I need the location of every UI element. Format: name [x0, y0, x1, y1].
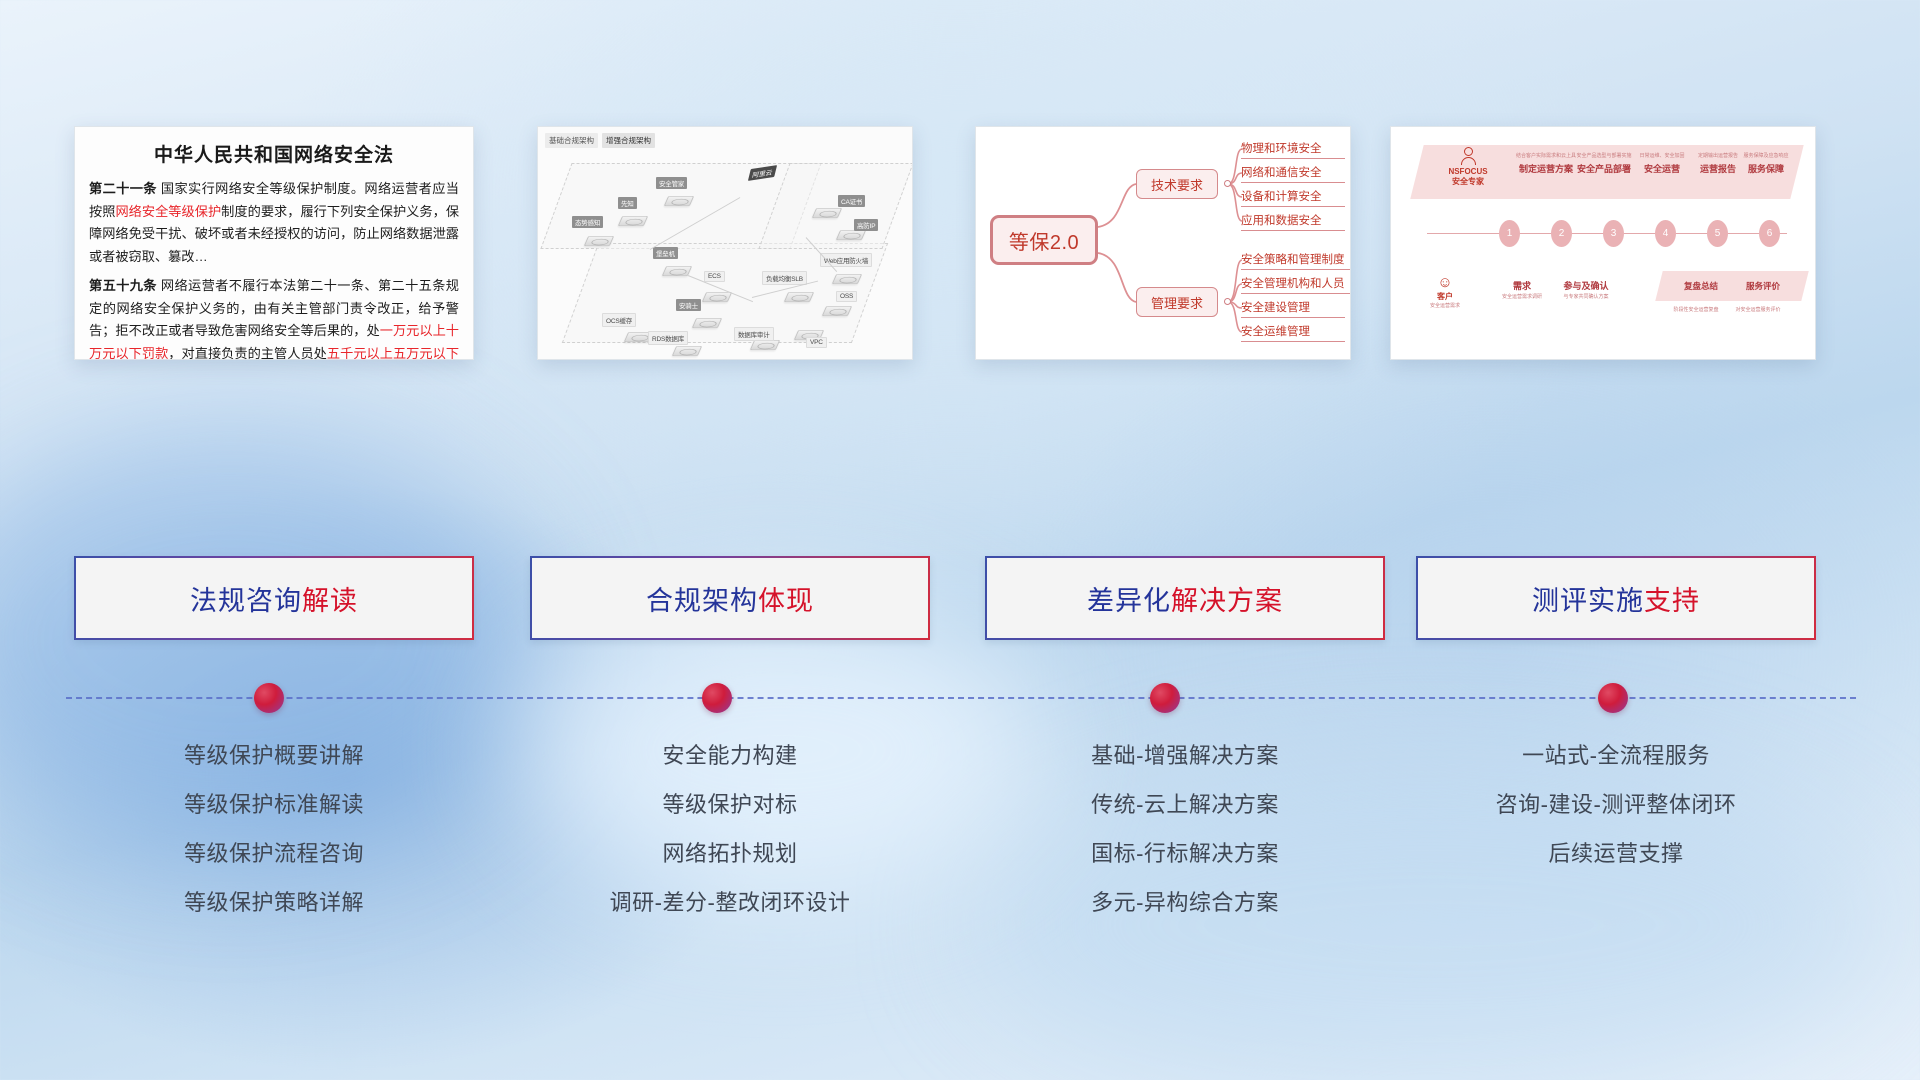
- node-xianzhi: [620, 209, 646, 229]
- process-bottom-step-2: 参与及确认 与专家共同确认方案: [1549, 279, 1623, 300]
- pillar-headline-1-label: 法规咨询解读: [190, 579, 358, 618]
- customer-sub: 安全运营需求: [1415, 302, 1475, 309]
- process-bottom-step-1-main: 需求: [1485, 279, 1559, 292]
- node-oss: [824, 299, 850, 319]
- mindmap-leaf-org-personnel: 安全管理机构和人员: [1241, 275, 1351, 294]
- tab-enhanced-architecture[interactable]: 增强合规架构: [602, 133, 655, 148]
- list-item: 基础-增强解决方案: [985, 745, 1385, 767]
- process-bottom-step-2-sub: 与专家共同确认方案: [1549, 294, 1623, 300]
- process-top-step-5-sub: 服务保障及应急响应: [1729, 153, 1803, 159]
- node-bastion-host: [664, 259, 690, 279]
- pillar-headline-1[interactable]: 法规咨询解读: [74, 556, 474, 640]
- node-label-ecs: ECS: [704, 271, 725, 282]
- node-label-oss: OSS: [836, 291, 857, 302]
- customer-label: 客户: [1415, 291, 1475, 302]
- pillar-headline-row: 法规咨询解读 合规架构体现 差异化解决方案 测评实施支持: [0, 556, 1920, 640]
- card-cybersecurity-law[interactable]: 中华人民共和国网络安全法 第二十一条 国家实行网络安全等级保护制度。网络运营者应…: [74, 126, 474, 360]
- node-label-security-butler: 安全管家: [656, 177, 687, 189]
- law-article-21-label: 第二十一条: [89, 181, 157, 196]
- process-step-number-2: 2: [1551, 220, 1572, 247]
- pillar-headline-4[interactable]: 测评实施支持: [1416, 556, 1816, 640]
- node-label-slb: 负载均衡SLB: [762, 271, 807, 285]
- process-top-step-5: 服务保障及应急响应 服务保障: [1729, 153, 1803, 175]
- process-bottom-step-4-sub: 对安全运营服务评价: [1721, 307, 1795, 313]
- mindmap-leaf-device-compute: 设备和计算安全: [1241, 188, 1345, 207]
- list-item: 等级保护对标: [530, 794, 930, 816]
- mindmap-branch-technical: 技术要求: [1136, 169, 1218, 199]
- process-bottom-step-1: 需求 安全运营需求调研: [1485, 279, 1559, 300]
- node-label-situation-awareness: 态势感知: [572, 216, 603, 228]
- mindmap: 等保2.0 技术要求 物理和环境安全 网络和通信安全 设备和计算安全 应用和数据…: [976, 127, 1350, 359]
- expert-brand: NSFOCUS: [1435, 167, 1501, 177]
- process-banner: NSFOCUS 安全专家 结合客户实际需求和云上具 制定运营方案 安全产品选型与…: [1410, 145, 1803, 199]
- process-diagram: NSFOCUS 安全专家 结合客户实际需求和云上具 制定运营方案 安全产品选型与…: [1391, 127, 1815, 359]
- mindmap-leaf-physical-env: 物理和环境安全: [1241, 140, 1345, 159]
- architecture-diagram: 基础合规架构 增强合规架构 阿里云 态势感知 先知 安全管家 堡垒机 ECS 安…: [538, 127, 912, 359]
- pillar-headline-3-red: 解决方案: [1171, 586, 1283, 616]
- mindmap-collapse-dot-technical[interactable]: [1224, 180, 1231, 187]
- process-expert-badge: NSFOCUS 安全专家: [1435, 147, 1501, 187]
- pillar-headline-2[interactable]: 合规架构体现: [530, 556, 930, 640]
- list-item: 调研-差分-整改闭环设计: [530, 892, 930, 914]
- process-step-number-5: 5: [1707, 220, 1728, 247]
- card-compliance-architecture[interactable]: 基础合规架构 增强合规架构 阿里云 态势感知 先知 安全管家 堡垒机 ECS 安…: [537, 126, 913, 360]
- list-item: 传统-云上解决方案: [985, 794, 1385, 816]
- process-step-number-3: 3: [1603, 220, 1624, 247]
- architecture-tab-row: 基础合规架构 增强合规架构: [545, 133, 655, 148]
- list-item: 国标-行标解决方案: [985, 843, 1385, 865]
- pillar-headline-3-blue: 差异化: [1087, 586, 1171, 616]
- mindmap-leaf-operation-mgmt: 安全运维管理: [1241, 323, 1345, 342]
- card-nsfocus-process[interactable]: NSFOCUS 安全专家 结合客户实际需求和云上具 制定运营方案 安全产品选型与…: [1390, 126, 1816, 360]
- node-waf: [834, 267, 860, 287]
- pillar-headline-2-red: 体现: [758, 586, 814, 616]
- process-bottom-step-2-main: 参与及确认: [1549, 279, 1623, 292]
- customer-person-icon: ☺: [1415, 275, 1475, 290]
- timeline-node-2[interactable]: [702, 683, 732, 713]
- node-label-vpc: VPC: [806, 337, 827, 348]
- node-ca-certificate: [814, 201, 840, 221]
- pillar-list-2: 安全能力构建 等级保护对标 网络拓扑规划 调研-差分-整改闭环设计: [530, 745, 930, 941]
- law-article-59-text-b: ，对直接负责的主管人员处: [168, 346, 327, 360]
- list-item: 网络拓扑规划: [530, 843, 930, 865]
- pillar-list-4: 一站式-全流程服务 咨询-建设-测评整体闭环 后续运营支撑: [1416, 745, 1816, 892]
- process-step-number-1: 1: [1499, 220, 1520, 247]
- preview-card-row: 中华人民共和国网络安全法 第二十一条 国家实行网络安全等级保护制度。网络运营者应…: [0, 126, 1920, 366]
- pillar-headline-1-red: 解读: [302, 586, 358, 616]
- pillar-list-3: 基础-增强解决方案 传统-云上解决方案 国标-行标解决方案 多元-异构综合方案: [985, 745, 1385, 941]
- node-label-bastion-host: 堡垒机: [653, 247, 678, 259]
- process-bottom-step-1-sub: 安全运营需求调研: [1485, 294, 1559, 300]
- list-item: 等级保护流程咨询: [74, 843, 474, 865]
- law-article-21-highlight: 网络安全等级保护: [115, 204, 221, 219]
- pillar-headline-4-label: 测评实施支持: [1532, 579, 1700, 618]
- node-situation-awareness: [586, 229, 612, 249]
- process-bottom-step-3-main: 复盘总结: [1684, 280, 1718, 292]
- node-label-ca-certificate: CA证书: [838, 195, 865, 207]
- node-anqishi: [694, 311, 720, 331]
- expert-person-body-icon: [1461, 157, 1476, 165]
- law-title: 中华人民共和国网络安全法: [89, 140, 459, 167]
- process-step-number-6: 6: [1759, 220, 1780, 247]
- list-item: 等级保护标准解读: [74, 794, 474, 816]
- node-label-db-audit: 数据库审计: [734, 327, 774, 341]
- process-bottom-tag-2: 服务评价: [1717, 271, 1808, 301]
- process-bottom-step-4-main: 服务评价: [1746, 280, 1780, 292]
- node-label-ocs-cache: OCS缓存: [602, 313, 636, 327]
- node-label-anti-ddos-ip: 高防IP: [854, 219, 878, 231]
- card-dengbao-mindmap[interactable]: 等保2.0 技术要求 物理和环境安全 网络和通信安全 设备和计算安全 应用和数据…: [975, 126, 1351, 360]
- timeline-dashed-line: [66, 697, 1856, 699]
- pillar-headline-2-label: 合规架构体现: [646, 579, 814, 618]
- process-top-step-5-main: 服务保障: [1729, 162, 1803, 175]
- node-label-xianzhi: 先知: [618, 197, 637, 209]
- list-item: 安全能力构建: [530, 745, 930, 767]
- node-security-butler: [666, 189, 692, 209]
- tab-basic-architecture[interactable]: 基础合规架构: [545, 133, 598, 148]
- pillar-headline-3[interactable]: 差异化解决方案: [985, 556, 1385, 640]
- timeline-node-1[interactable]: [254, 683, 284, 713]
- mindmap-leaf-policy-system: 安全策略和管理制度: [1241, 251, 1351, 270]
- mindmap-root: 等保2.0: [990, 215, 1098, 265]
- pillar-headline-2-blue: 合规架构: [646, 586, 758, 616]
- list-item: 等级保护策略详解: [74, 892, 474, 914]
- list-item: 等级保护概要讲解: [74, 745, 474, 767]
- pillar-list-1: 等级保护概要讲解 等级保护标准解读 等级保护流程咨询 等级保护策略详解: [74, 745, 474, 941]
- node-label-rds-database: RDS数据库: [648, 331, 688, 345]
- list-item: 多元-异构综合方案: [985, 892, 1385, 914]
- expert-person-icon: [1464, 147, 1473, 156]
- law-article-59-label: 第五十九条: [89, 278, 157, 293]
- mindmap-leaf-app-data: 应用和数据安全: [1241, 212, 1345, 231]
- mindmap-collapse-dot-management[interactable]: [1224, 298, 1231, 305]
- pillar-headline-3-label: 差异化解决方案: [1087, 579, 1283, 618]
- process-customer-badge: ☺ 客户 安全运营需求: [1415, 275, 1475, 309]
- mindmap-leaf-construction-mgmt: 安全建设管理: [1241, 299, 1345, 318]
- law-content: 中华人民共和国网络安全法 第二十一条 国家实行网络安全等级保护制度。网络运营者应…: [75, 127, 473, 360]
- list-item: 后续运营支撑: [1416, 843, 1816, 865]
- node-label-anqishi: 安骑士: [676, 299, 701, 311]
- process-bottom-step-4-note: 对安全运营服务评价: [1721, 305, 1795, 313]
- expert-role: 安全专家: [1435, 177, 1501, 187]
- pillar-headline-1-blue: 法规咨询: [190, 586, 302, 616]
- pillar-headline-4-red: 支持: [1644, 586, 1700, 616]
- pillar-headline-4-blue: 测评实施: [1532, 586, 1644, 616]
- timeline-node-4[interactable]: [1598, 683, 1628, 713]
- law-article-21: 第二十一条 国家实行网络安全等级保护制度。网络运营者应当按照网络安全等级保护制度…: [89, 178, 459, 269]
- list-item: 咨询-建设-测评整体闭环: [1416, 794, 1816, 816]
- timeline-node-3[interactable]: [1150, 683, 1180, 713]
- law-article-59: 第五十九条 网络运营者不履行本法第二十一条、第二十五条规定的网络安全保护义务的，…: [89, 275, 459, 360]
- mindmap-branch-management: 管理要求: [1136, 287, 1218, 317]
- mindmap-leaf-network-comm: 网络和通信安全: [1241, 164, 1345, 183]
- list-item: 一站式-全流程服务: [1416, 745, 1816, 767]
- process-step-number-4: 4: [1655, 220, 1676, 247]
